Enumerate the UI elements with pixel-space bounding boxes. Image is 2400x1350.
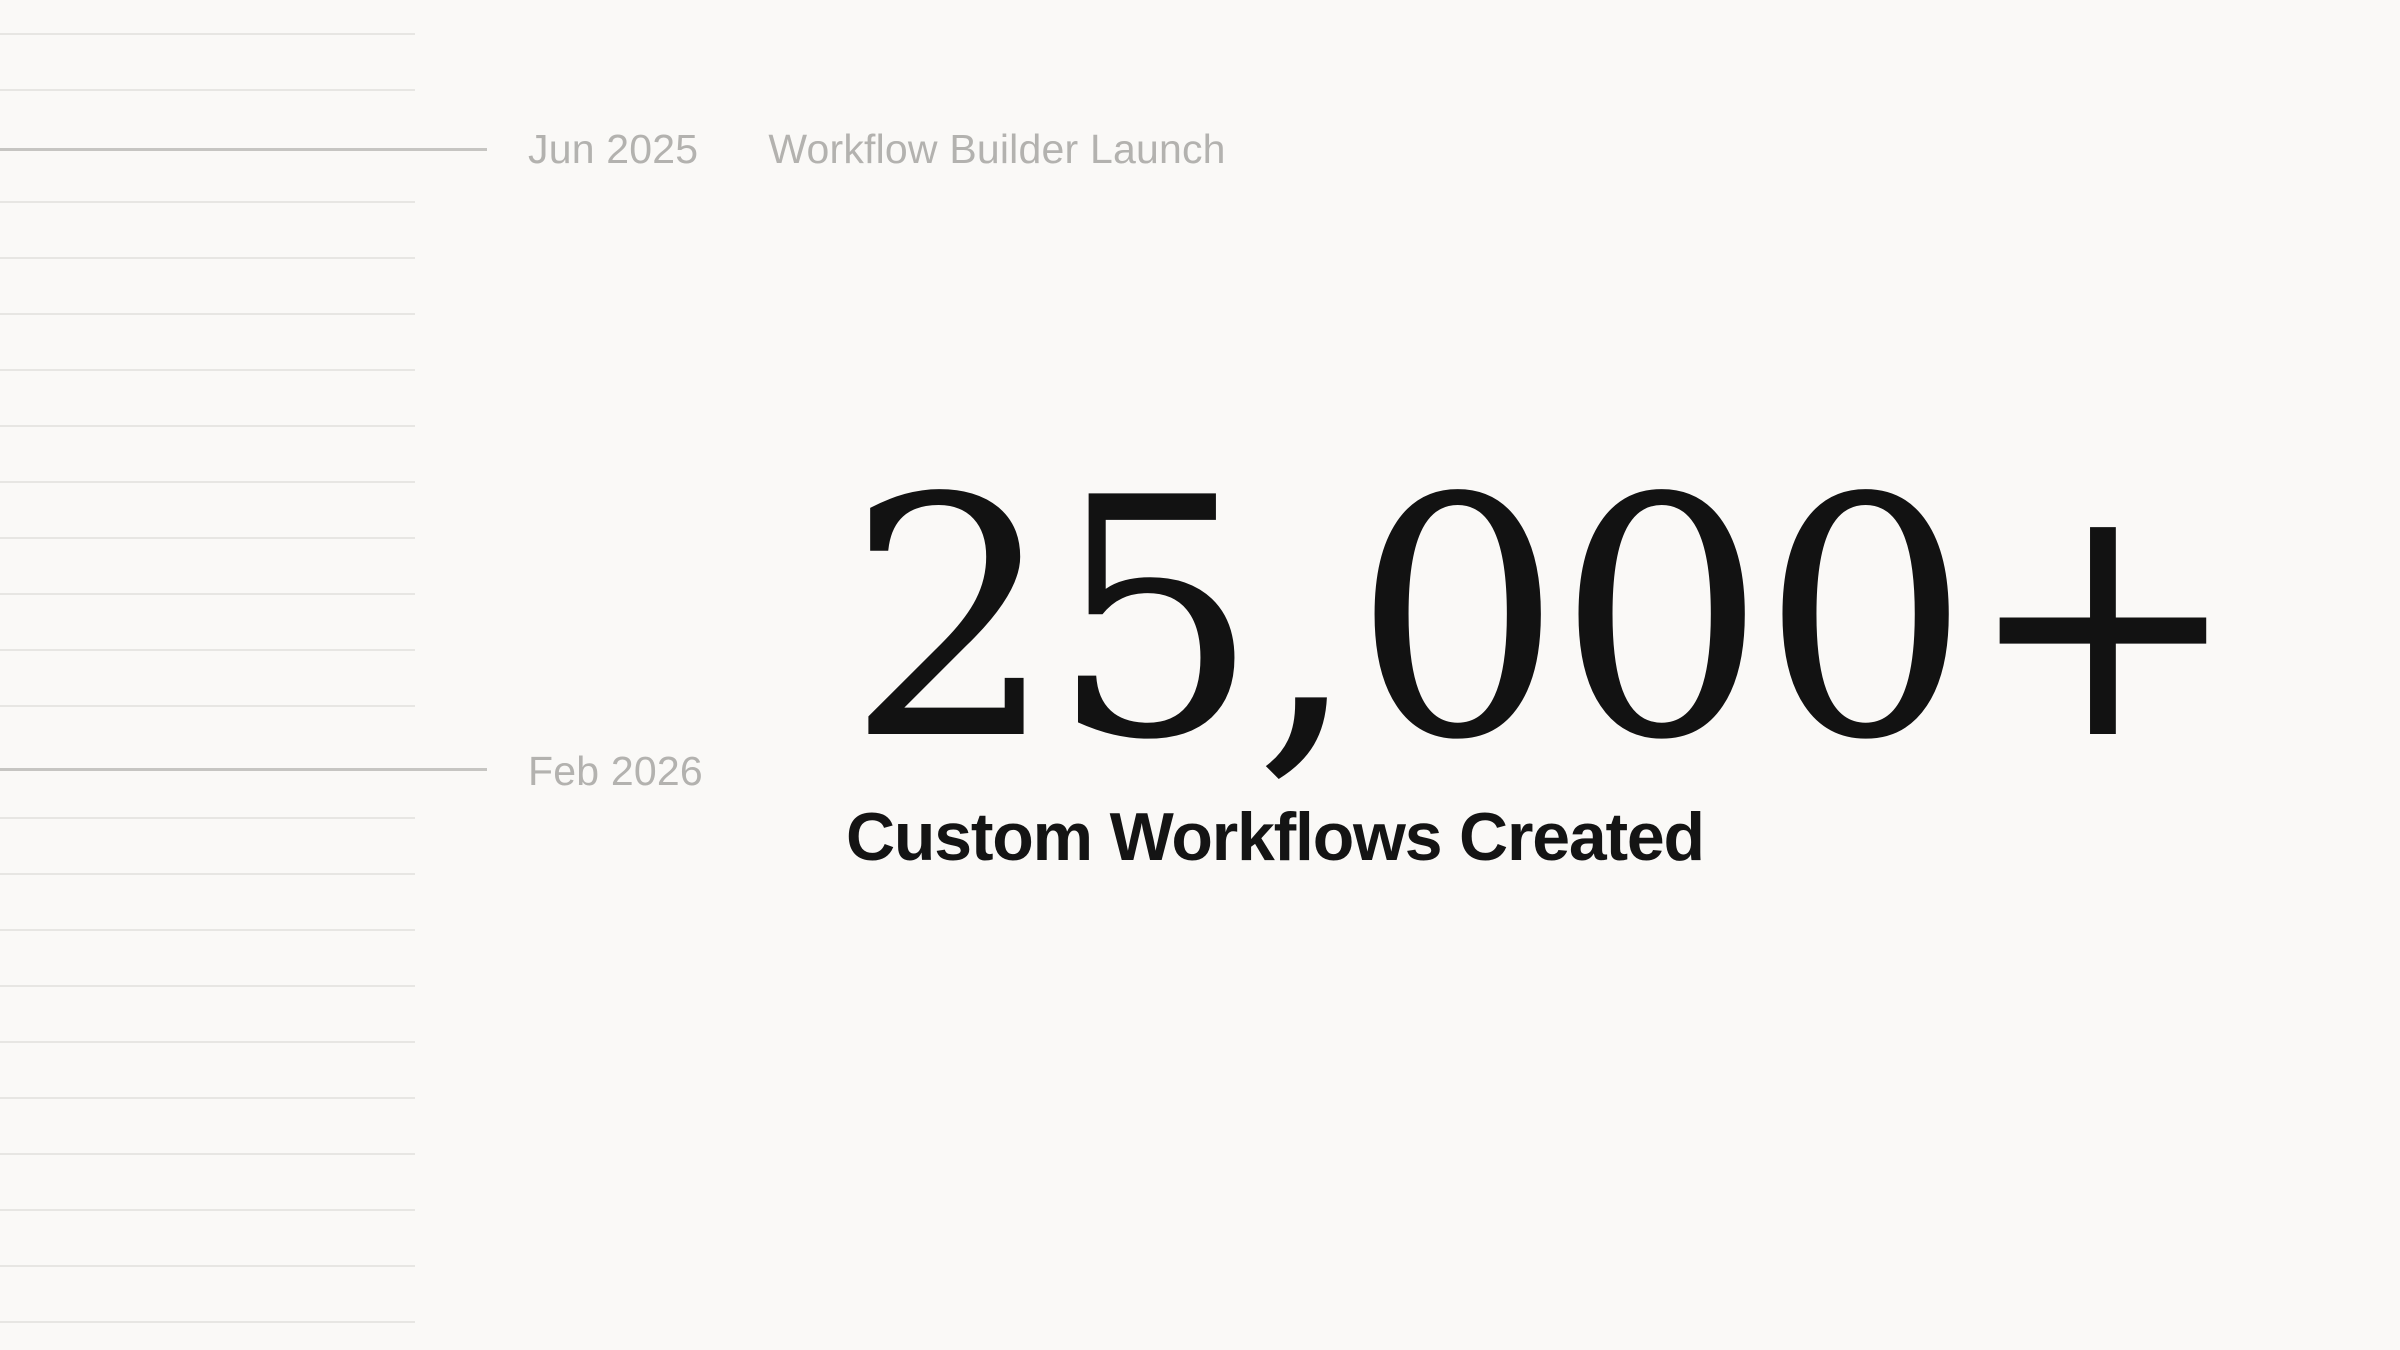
timeline-major-tick: [0, 148, 487, 151]
timeline-event-title: Workflow Builder Launch: [768, 126, 1225, 173]
hero-stat-caption: Custom Workflows Created: [846, 803, 2346, 871]
timeline-event-feb-2026: Feb 2026: [528, 748, 703, 795]
timeline-minor-tick: [0, 1041, 415, 1043]
timeline-minor-tick: [0, 1153, 415, 1155]
timeline-minor-tick: [0, 33, 415, 35]
timeline-ruler: [0, 0, 520, 1350]
timeline-minor-tick: [0, 369, 415, 371]
timeline-minor-tick: [0, 1097, 415, 1099]
timeline-minor-tick: [0, 649, 415, 651]
timeline-minor-tick: [0, 873, 415, 875]
timeline-minor-tick: [0, 593, 415, 595]
timeline-major-tick: [0, 768, 487, 771]
timeline-minor-tick: [0, 1321, 415, 1323]
timeline-event-date: Feb 2026: [528, 748, 703, 795]
timeline-minor-tick: [0, 257, 415, 259]
timeline-minor-tick: [0, 985, 415, 987]
timeline-minor-tick: [0, 1209, 415, 1211]
timeline-event-date: Jun 2025: [528, 126, 698, 173]
timeline-minor-tick: [0, 537, 415, 539]
hero-stat-value: 25,000+: [846, 455, 2346, 785]
timeline-minor-tick: [0, 929, 415, 931]
timeline-minor-tick: [0, 89, 415, 91]
timeline-event-jun-2025: Jun 2025 Workflow Builder Launch: [528, 126, 1226, 173]
timeline-minor-tick: [0, 705, 415, 707]
timeline-minor-tick: [0, 425, 415, 427]
timeline-minor-tick: [0, 1265, 415, 1267]
timeline-minor-tick: [0, 481, 415, 483]
stat-callout-canvas: Jun 2025 Workflow Builder Launch Feb 202…: [0, 0, 2400, 1350]
hero-stat: 25,000+ Custom Workflows Created: [846, 455, 2346, 871]
timeline-minor-tick: [0, 201, 415, 203]
timeline-minor-tick: [0, 817, 415, 819]
timeline-minor-tick: [0, 313, 415, 315]
